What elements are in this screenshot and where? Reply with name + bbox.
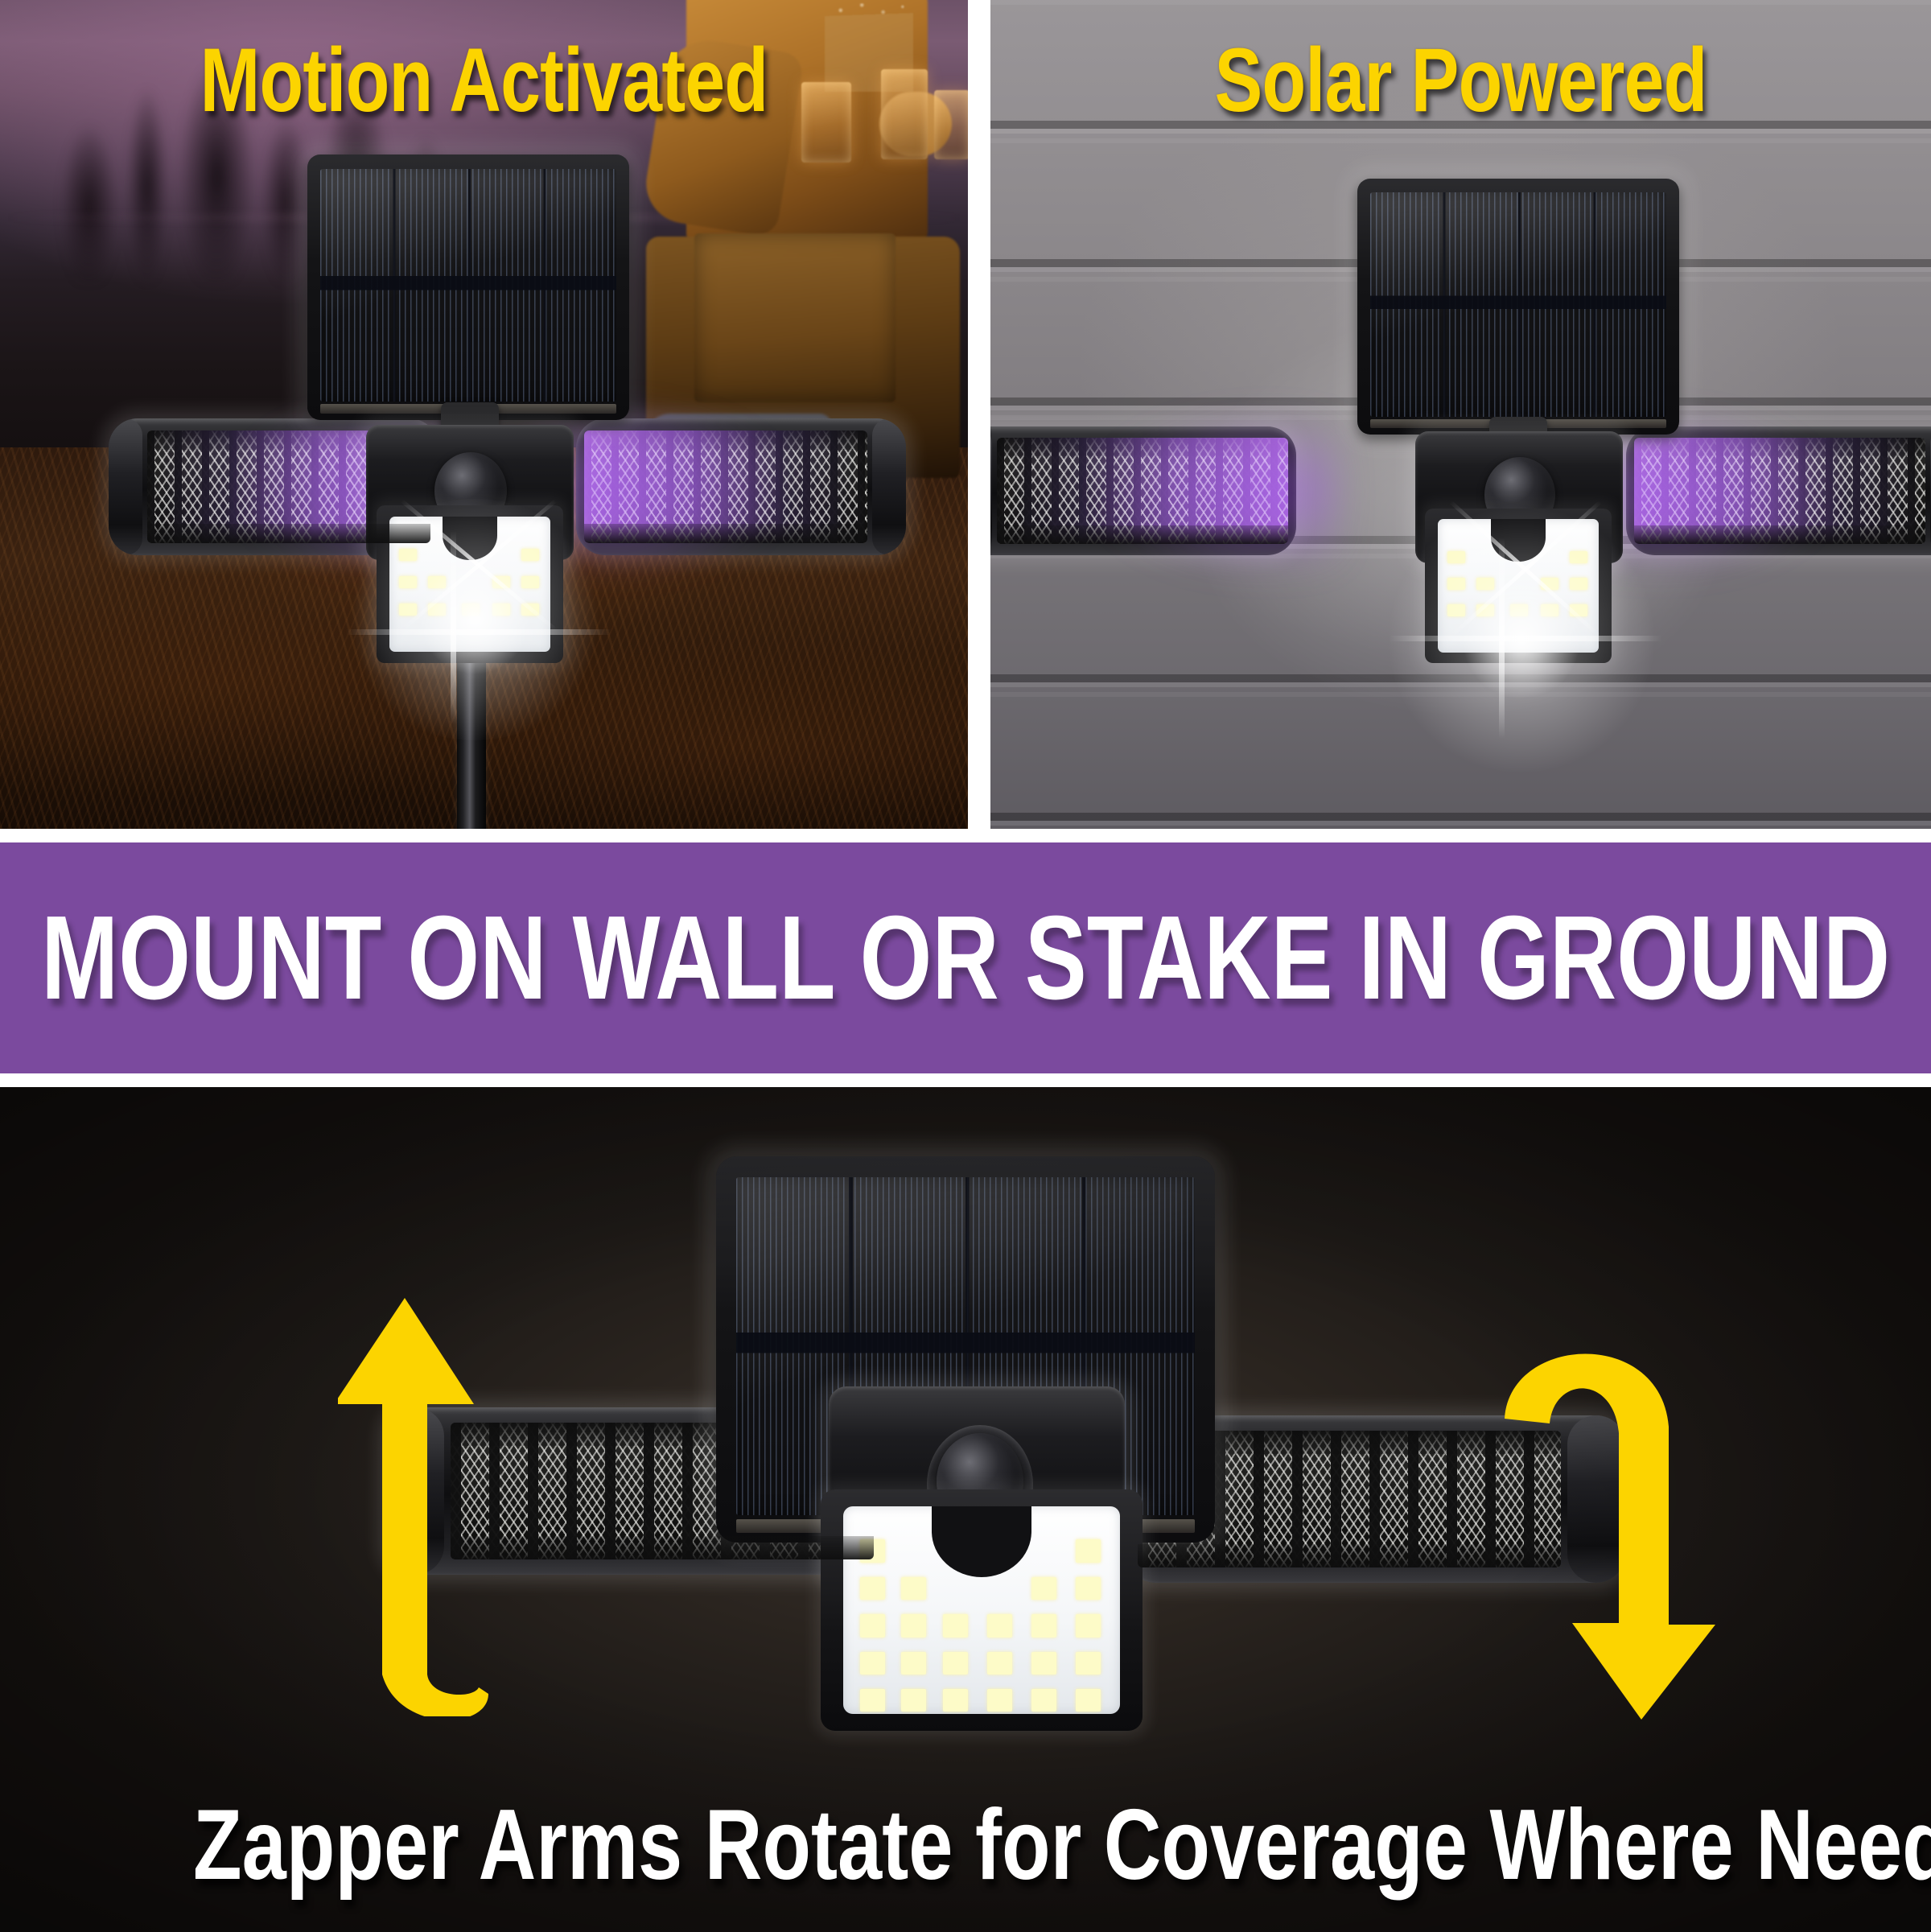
led-floodlight	[1425, 509, 1612, 663]
rotate-arrow-right-icon	[1488, 1298, 1722, 1724]
panel-motion-activated: Motion Activated	[0, 0, 968, 829]
solar-panel	[1357, 179, 1679, 435]
panel-title-motion-activated: Motion Activated	[97, 35, 871, 126]
solar-panel	[307, 154, 629, 420]
panel-title-solar-powered: Solar Powered	[1085, 35, 1837, 126]
divider-below-banner	[0, 1073, 1931, 1087]
product-feature-sheet: Motion Activated	[0, 0, 1931, 1932]
right-zapper-arm	[1626, 426, 1931, 555]
panel-rotating-arms: Zapper Arms Rotate for Coverage Where Ne…	[0, 1087, 1931, 1932]
left-zapper-arm	[990, 426, 1296, 555]
led-lens	[1438, 519, 1599, 652]
rotate-arrow-left-icon	[338, 1298, 547, 1716]
divider-above-banner	[0, 829, 1931, 842]
bottom-caption: Zapper Arms Rotate for Coverage Where Ne…	[193, 1795, 1738, 1895]
mount-banner-text: MOUNT ON WALL OR STAKE IN GROUND	[41, 899, 1890, 1018]
mount-banner: MOUNT ON WALL OR STAKE IN GROUND	[0, 842, 1931, 1073]
top-panel-row: Motion Activated	[0, 0, 1931, 829]
panel-solar-powered: Solar Powered	[990, 0, 1931, 829]
right-zapper-arm	[576, 418, 906, 555]
